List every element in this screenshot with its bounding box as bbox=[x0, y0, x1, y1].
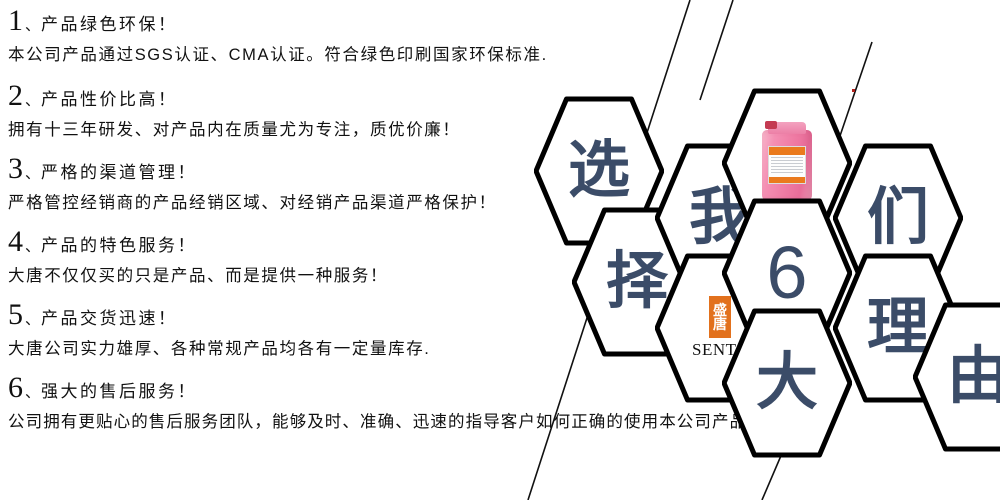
jerrycan-cap bbox=[765, 121, 777, 129]
hex-cell-you: 由 bbox=[913, 302, 1000, 452]
label-footer-band bbox=[769, 177, 805, 183]
jerrycan-label bbox=[768, 146, 806, 184]
product-jerrycan-image bbox=[759, 122, 815, 204]
promo-poster: 1 、 产品绿色环保！ 本公司产品通过SGS认证、CMA认证。符合绿色印刷国家环… bbox=[0, 0, 1000, 500]
hex-label-you: 由 bbox=[913, 302, 1000, 452]
label-text-lines bbox=[769, 155, 805, 173]
honeycomb-cluster: 选 择 我 盛 唐 SENTA bbox=[0, 0, 1000, 500]
label-header-band bbox=[769, 147, 805, 155]
